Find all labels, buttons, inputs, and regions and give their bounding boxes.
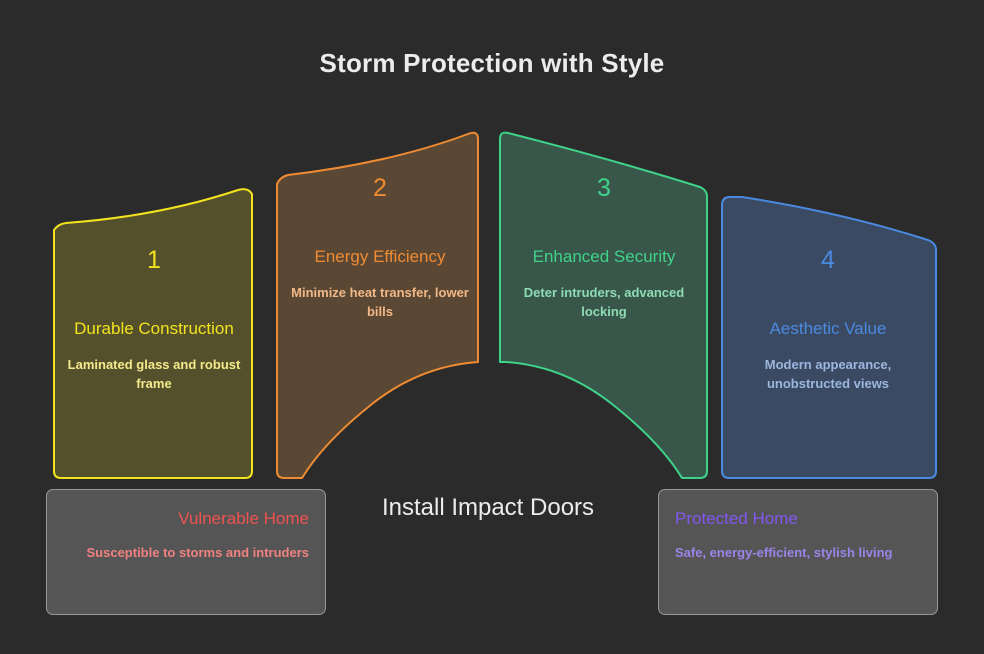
vulnerable-home-title: Vulnerable Home	[63, 508, 309, 530]
protected-home-title: Protected Home	[675, 508, 921, 530]
panel-shape-4[interactable]	[722, 197, 936, 478]
protected-home-description: Safe, energy-efficient, stylish living	[675, 544, 921, 562]
panel-shape-2[interactable]	[277, 133, 478, 478]
panel-shape-3[interactable]	[500, 133, 707, 478]
center-caption: Install Impact Doors	[340, 492, 636, 524]
vulnerable-home-card[interactable]: Vulnerable Home Susceptible to storms an…	[46, 489, 326, 615]
panel-shape-1[interactable]	[54, 189, 252, 478]
infographic-root: Storm Protection with Style 1 Durable Co…	[0, 0, 984, 654]
vulnerable-home-description: Susceptible to storms and intruders	[63, 544, 309, 562]
protected-home-card[interactable]: Protected Home Safe, energy-efficient, s…	[658, 489, 938, 615]
